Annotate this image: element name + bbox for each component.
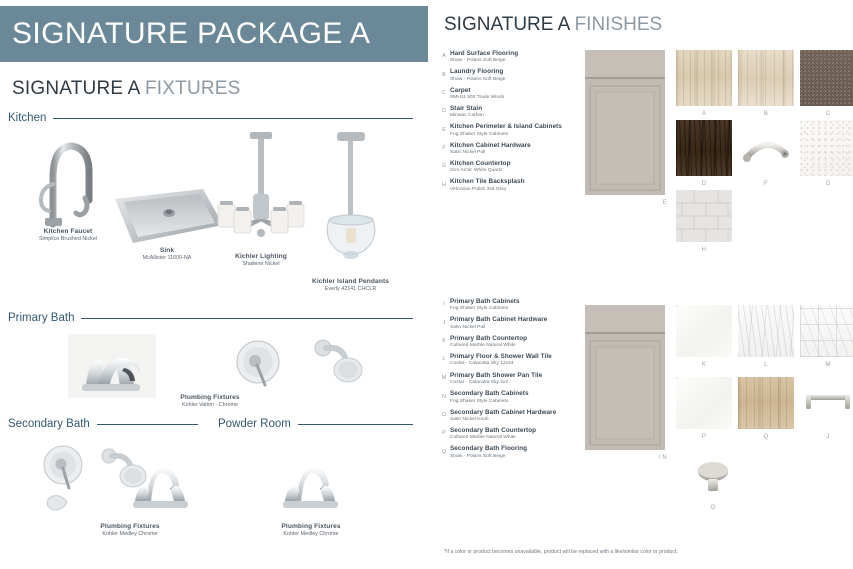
legend-item: K Primary Bath CountertopCultured Marble…	[438, 335, 593, 350]
legend-letter: F	[438, 142, 450, 157]
fixture-primary-plumbing: Plumbing Fixtures Kohler Valton - Chrome	[145, 394, 275, 409]
page-title-bar: SIGNATURE PACKAGE A	[0, 6, 428, 62]
legend-letter: C	[438, 87, 450, 102]
swatch-label: M	[825, 362, 830, 368]
legend-name: Secondary Bath Flooring	[450, 445, 593, 453]
swatch-texture	[738, 305, 794, 357]
legend-sub: Costar - Calacatta Sky 12x24	[450, 361, 593, 368]
legend-item: H Kitchen Tile BacksplashVirtruvian Poli…	[438, 178, 593, 193]
legend-letter: J	[438, 316, 450, 331]
swatch-texture	[800, 305, 853, 357]
legend-name: Secondary Bath Countertop	[450, 427, 593, 435]
room-header-kitchen: Kitchen	[8, 112, 413, 124]
legend-sub: Fog Shaker Style Cabinets	[450, 132, 593, 139]
legend-sub: Shaw - Polaris Soft Beige	[450, 77, 593, 84]
lav-faucet-icon	[280, 443, 342, 519]
legend-item: D Stair StainMinwax Carbon	[438, 105, 593, 120]
legend-sub: Cultured Marble Natural White	[450, 435, 593, 442]
legend-name: Secondary Bath Cabinet Hardware	[450, 409, 593, 417]
legend-name: Secondary Bath Cabinets	[450, 390, 593, 398]
legend-sub: Satin Nickel Pull	[450, 150, 593, 157]
legend-letter: D	[438, 105, 450, 120]
shower-head-icon	[306, 334, 368, 396]
swatch-hard-surface-flooring: A	[676, 50, 732, 106]
legend-sub: Cultured Marble Natural White	[450, 343, 593, 350]
legend-item: G Kitchen Countertop2cm Arctic White Qua…	[438, 160, 593, 175]
swatch-texture	[676, 305, 732, 357]
swatch-label: F	[764, 181, 768, 187]
legend-item: M Primary Bath Shower Pan TileCostar - C…	[438, 372, 593, 387]
swatch-label: E	[663, 200, 667, 206]
finishes-title-main: SIGNATURE A	[444, 14, 575, 35]
legend-name: Laundry Flooring	[450, 68, 593, 76]
swatch-label: D	[702, 181, 707, 187]
cabinet-pull-icon	[738, 120, 794, 176]
swatch-carpet: C	[800, 50, 853, 106]
right-panel: SIGNATURE A FINISHES A Hard Surface Floo…	[430, 0, 853, 569]
fixtures-section-title: SIGNATURE A FIXTURES	[12, 78, 241, 100]
legend-sub: Satin Nickel Knob	[450, 417, 593, 424]
swatch-label: G	[826, 181, 831, 187]
legend-item: P Secondary Bath CountertopCultured Marb…	[438, 427, 593, 442]
fixture-name: Plumbing Fixtures	[65, 523, 195, 531]
bar-pull-icon	[800, 377, 853, 429]
fixtures-title-sub: FIXTURES	[145, 78, 241, 99]
legend-letter: E	[438, 123, 450, 138]
room-label-secondary-bath: Secondary Bath	[8, 418, 97, 430]
legend-letter: B	[438, 68, 450, 83]
swatch-label: C	[826, 111, 831, 117]
swatch-primary-floor-shower-tile: L	[738, 305, 794, 357]
legend-letter: Q	[438, 445, 450, 460]
legend-letter: P	[438, 427, 450, 442]
swatch-texture	[676, 120, 732, 176]
legend-item: C CarpetSMH11 502 Trade Winds	[438, 87, 593, 102]
legend-item: E Kitchen Perimeter & Island CabinetsFog…	[438, 123, 593, 138]
room-label-kitchen: Kitchen	[8, 112, 53, 124]
signature-package-a-page: SIGNATURE PACKAGE A SIGNATURE A FIXTURES…	[0, 0, 853, 569]
legend-letter: O	[438, 409, 450, 424]
room-label-powder-room: Powder Room	[218, 418, 298, 430]
fixture-sub: Kohler Medley Chrome	[65, 531, 195, 538]
legend-letter: I	[438, 298, 450, 313]
legend-letter: L	[438, 353, 450, 368]
pendant-light-icon	[301, 128, 401, 278]
fixture-name: Kichler Island Pendants	[288, 278, 413, 286]
swatch-texture	[800, 50, 853, 106]
legend-sub: SMH11 502 Trade Winds	[450, 95, 593, 102]
legend-item: N Secondary Bath CabinetsFog Shaker Styl…	[438, 390, 593, 405]
finishes-legend-top: A Hard Surface FlooringShaw - Polaris So…	[438, 50, 593, 197]
legend-name: Kitchen Tile Backsplash	[450, 178, 593, 186]
swatch-label: J	[826, 434, 829, 440]
swatch-label: L	[764, 362, 768, 368]
room-rule	[298, 424, 413, 425]
fixture-sub: Everly 42141 CHCLR	[288, 286, 413, 293]
fixture-name: Plumbing Fixtures	[145, 394, 275, 402]
legend-item: F Kitchen Cabinet HardwareSatin Nickel P…	[438, 142, 593, 157]
room-rule	[53, 118, 413, 119]
legend-letter: A	[438, 50, 450, 65]
swatch-texture	[676, 50, 732, 106]
legend-item: Q Secondary Bath FlooringShaw - Polaris …	[438, 445, 593, 460]
room-rule	[81, 318, 413, 319]
swatch-primary-bath-countertop: K	[676, 305, 732, 357]
room-rule	[97, 424, 198, 425]
swatch-secondary-bath-countertop: P	[676, 377, 732, 429]
swatch-primary-shower-pan-tile: M	[800, 305, 853, 357]
fixture-island-pendants: Kichler Island Pendants Everly 42141 CHC…	[288, 128, 413, 293]
swatch-label: Q	[764, 434, 769, 440]
legend-sub: 2cm Arctic White Quartz	[450, 168, 593, 175]
legend-item: A Hard Surface FlooringShaw - Polaris So…	[438, 50, 593, 65]
swatch-laundry-flooring: B	[738, 50, 794, 106]
legend-name: Primary Bath Cabinet Hardware	[450, 316, 593, 324]
legend-sub: Minwax Carbon	[450, 113, 593, 120]
swatch-kitchen-backsplash: H	[676, 190, 732, 242]
swatch-label: H	[702, 247, 707, 253]
swatch-label: A	[702, 111, 706, 117]
swatch-primary-bath-hardware: J	[800, 377, 853, 429]
swatch-texture	[738, 377, 794, 429]
secondary-lav-faucet-icon	[130, 443, 192, 519]
swatch-label: B	[764, 111, 768, 117]
left-panel: SIGNATURE PACKAGE A SIGNATURE A FIXTURES…	[0, 0, 430, 569]
finishes-title-sub: FINISHES	[575, 14, 663, 35]
swatch-label: P	[702, 434, 706, 440]
legend-name: Primary Bath Countertop	[450, 335, 593, 343]
legend-name: Primary Bath Shower Pan Tile	[450, 372, 593, 380]
legend-sub: Costar - Calacatta Sky 2x2	[450, 380, 593, 387]
fixture-powder-plumbing: Plumbing Fixtures Kohler Medley Chrome	[246, 523, 376, 538]
swatch-label: K	[702, 362, 706, 368]
shower-valve-icon	[228, 336, 288, 398]
fixture-secondary-plumbing: Plumbing Fixtures Kohler Medley Chrome	[65, 523, 195, 538]
room-header-secondary-bath: Secondary Bath	[8, 418, 198, 430]
fixture-name: Plumbing Fixtures	[246, 523, 376, 531]
room-label-primary-bath: Primary Bath	[8, 312, 81, 324]
round-knob-icon	[685, 455, 741, 500]
room-header-primary-bath: Primary Bath	[8, 312, 413, 324]
bath-faucet-icon	[68, 334, 156, 398]
legend-item: L Primary Floor & Shower Wall TileCostar…	[438, 353, 593, 368]
page-title: SIGNATURE PACKAGE A	[0, 17, 370, 51]
swatch-kitchen-countertop: G	[800, 120, 853, 176]
swatch-secondary-bath-hardware: O	[685, 455, 741, 500]
finishes-legend-bottom: I Primary Bath CabinetsFog Shaker Style …	[438, 298, 593, 464]
legend-item: O Secondary Bath Cabinet HardwareSatin N…	[438, 409, 593, 424]
swatch-stair-stain: D	[676, 120, 732, 176]
legend-name: Carpet	[450, 87, 593, 95]
legend-item: B Laundry FlooringShaw - Polaris Soft Be…	[438, 68, 593, 83]
legend-sub: Fog Shaker Style Cabinets	[450, 306, 593, 313]
finishes-section-title: SIGNATURE A FINISHES	[444, 14, 662, 36]
swatch-label: I N	[658, 455, 667, 461]
swatch-secondary-bath-flooring: Q	[738, 377, 794, 429]
legend-sub: Virtruvian Polish 3x6 Grey	[450, 187, 593, 194]
legend-letter: M	[438, 372, 450, 387]
legend-item: J Primary Bath Cabinet HardwareSatin Nic…	[438, 316, 593, 331]
swatch-texture	[800, 120, 853, 176]
legend-name: Kitchen Perimeter & Island Cabinets	[450, 123, 593, 131]
swatch-kitchen-cabinet-hardware: F	[738, 120, 794, 176]
fixtures-title-main: SIGNATURE A	[12, 78, 145, 99]
legend-sub: Satin Nickel Pull	[450, 325, 593, 332]
disclaimer-text: *If a color or product becomes unavailab…	[444, 549, 678, 555]
swatch-texture	[676, 377, 732, 429]
swatch-cabinet-door-bath: I N	[585, 305, 665, 450]
swatch-texture	[738, 50, 794, 106]
legend-letter: K	[438, 335, 450, 350]
legend-item: I Primary Bath CabinetsFog Shaker Style …	[438, 298, 593, 313]
swatch-label: O	[711, 505, 716, 511]
fixture-sub: Kohler Medley Chrome	[246, 531, 376, 538]
legend-sub: Shaw - Polaris Soft Beige	[450, 454, 593, 461]
legend-letter: N	[438, 390, 450, 405]
legend-sub: Fog Shaker Style Cabinets	[450, 399, 593, 406]
legend-letter: G	[438, 160, 450, 175]
fixture-sub: Kohler Valton - Chrome	[145, 402, 275, 409]
legend-name: Kitchen Cabinet Hardware	[450, 142, 593, 150]
legend-letter: H	[438, 178, 450, 193]
swatch-cabinet-door-kitchen: E	[585, 50, 665, 195]
legend-sub: Shaw - Polaris Soft Beige	[450, 58, 593, 65]
room-header-powder-room: Powder Room	[218, 418, 413, 430]
